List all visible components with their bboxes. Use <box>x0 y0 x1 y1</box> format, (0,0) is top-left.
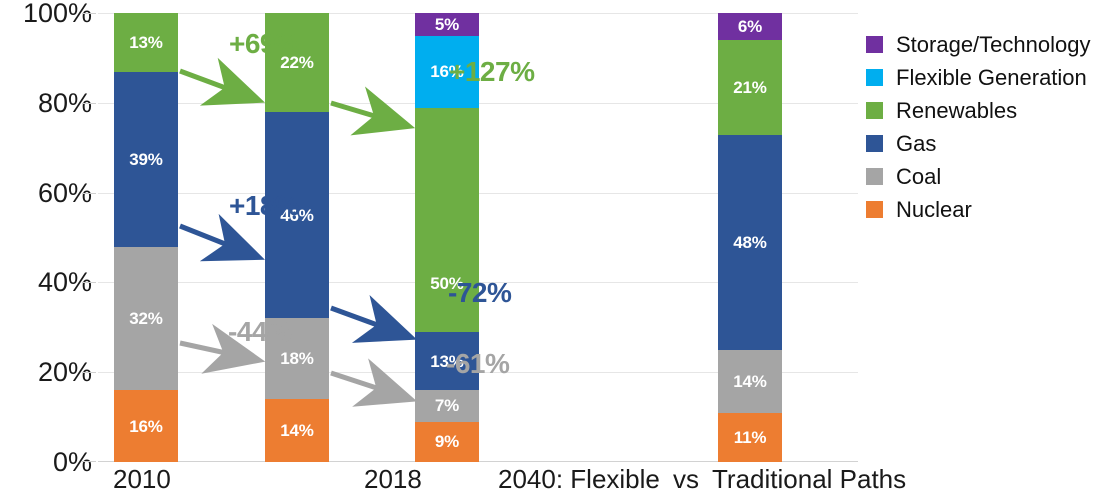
segment-coal[interactable]: 7% <box>415 390 479 421</box>
segment-value: 39% <box>129 151 162 168</box>
segment-value: 50% <box>430 275 463 292</box>
stacked-bar-chart: 100% 80% 60% 40% 20% 0% 13% 39% <box>0 0 1110 499</box>
segment-value: 9% <box>435 433 459 450</box>
legend-swatch-nuclear-icon <box>866 201 883 218</box>
legend-swatch-storage-icon <box>866 36 883 53</box>
bar-2040-flexible[interactable]: 5% 16% 50% 13% 7% 9% <box>415 13 479 462</box>
segment-value: 32% <box>129 310 162 327</box>
legend-label: Gas <box>896 133 936 155</box>
segment-value: 18% <box>280 350 313 367</box>
legend-item-storage[interactable]: Storage/Technology <box>866 28 1106 61</box>
tick-stub-80 <box>82 103 96 104</box>
legend-item-gas[interactable]: Gas <box>866 127 1106 160</box>
segment-storage[interactable]: 6% <box>718 13 782 40</box>
segment-nuclear[interactable]: 9% <box>415 422 479 462</box>
segment-value: 48% <box>733 234 766 251</box>
segment-value: 22% <box>280 54 313 71</box>
plot-area: 13% 39% 32% 16% 22% 46% 18% 14 <box>98 13 858 462</box>
bar-traditional-paths[interactable]: 6% 21% 48% 14% 11% <box>718 13 782 462</box>
segment-nuclear[interactable]: 11% <box>718 413 782 462</box>
tick-stub-40 <box>82 282 96 283</box>
segment-value: 13% <box>129 34 162 51</box>
x-tick-2040-flexible: 2040: Flexible <box>498 466 660 492</box>
segment-value: 7% <box>435 397 459 414</box>
segment-value: 16% <box>430 63 463 80</box>
segment-renewables[interactable]: 21% <box>718 40 782 134</box>
tick-stub-100 <box>82 13 96 14</box>
segment-gas[interactable]: 46% <box>265 112 329 318</box>
segment-nuclear[interactable]: 16% <box>114 390 178 462</box>
x-tick-2018: 2018 <box>364 466 422 492</box>
segment-storage[interactable]: 5% <box>415 13 479 35</box>
segment-gas[interactable]: 39% <box>114 72 178 247</box>
legend-swatch-renewables-icon <box>866 102 883 119</box>
x-tick-2010: 2010 <box>113 466 171 492</box>
legend-swatch-flexible-generation-icon <box>866 69 883 86</box>
segment-renewables[interactable]: 13% <box>114 13 178 71</box>
segment-flexible-generation[interactable]: 16% <box>415 36 479 108</box>
legend-label: Flexible Generation <box>896 67 1087 89</box>
tick-stub-60 <box>82 193 96 194</box>
legend-item-coal[interactable]: Coal <box>866 160 1106 193</box>
y-axis: 100% 80% 60% 40% 20% 0% <box>0 0 92 499</box>
legend-item-renewables[interactable]: Renewables <box>866 94 1106 127</box>
segment-renewables[interactable]: 50% <box>415 108 479 332</box>
segment-coal[interactable]: 18% <box>265 318 329 399</box>
bar-2018[interactable]: 22% 46% 18% 14% <box>265 13 329 462</box>
tick-stub-20 <box>82 372 96 373</box>
legend-label: Nuclear <box>896 199 972 221</box>
x-axis: 2010 2018 2040: Flexible vs Traditional … <box>0 466 1110 499</box>
segment-value: 21% <box>733 79 766 96</box>
segment-value: 13% <box>430 353 463 370</box>
legend: Storage/Technology Flexible Generation R… <box>866 28 1106 226</box>
legend-swatch-gas-icon <box>866 135 883 152</box>
segment-renewables[interactable]: 22% <box>265 13 329 112</box>
segment-value: 14% <box>280 422 313 439</box>
segment-nuclear[interactable]: 14% <box>265 399 329 462</box>
segment-value: 5% <box>435 16 459 33</box>
legend-item-nuclear[interactable]: Nuclear <box>866 193 1106 226</box>
segment-gas[interactable]: 48% <box>718 135 782 350</box>
bar-2010[interactable]: 13% 39% 32% 16% <box>114 13 178 462</box>
segment-coal[interactable]: 14% <box>718 350 782 413</box>
segment-value: 6% <box>738 18 762 35</box>
segment-value: 46% <box>280 207 313 224</box>
segment-value: 16% <box>129 418 162 435</box>
tick-stub-0 <box>82 461 96 462</box>
segment-value: 14% <box>733 373 766 390</box>
segment-value: 11% <box>734 429 767 446</box>
x-tick-vs: vs <box>673 466 699 492</box>
legend-label: Storage/Technology <box>896 34 1090 56</box>
legend-item-flexible-generation[interactable]: Flexible Generation <box>866 61 1106 94</box>
segment-coal[interactable]: 32% <box>114 247 178 391</box>
legend-label: Renewables <box>896 100 1017 122</box>
legend-swatch-coal-icon <box>866 168 883 185</box>
segment-gas[interactable]: 13% <box>415 332 479 390</box>
x-tick-traditional-paths: Traditional Paths <box>712 466 906 492</box>
legend-label: Coal <box>896 166 941 188</box>
